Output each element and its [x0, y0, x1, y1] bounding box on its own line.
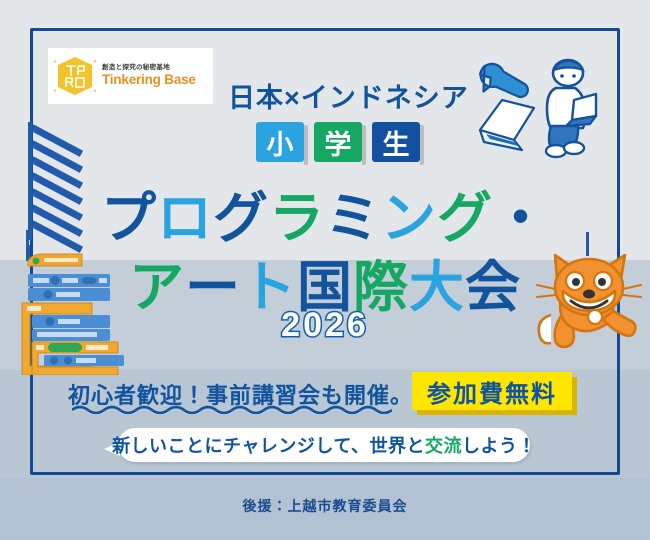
- sponsor-credit: 後援：上越市教育委員会: [0, 496, 650, 516]
- event-poster: 創造と探究の秘密基地 Tinkering Base 日本×インドネシア 小 学 …: [0, 0, 650, 540]
- title-char: ン: [381, 173, 437, 253]
- grade-badge-row: 小 学 生: [256, 122, 420, 162]
- title-char: ・: [493, 173, 549, 253]
- title-char: ラ: [269, 173, 325, 253]
- grade-badge: 学: [314, 122, 362, 162]
- laptop-icon: [480, 100, 534, 150]
- bubble-text-part-1: 新しいことにチャレンジして、世界と: [112, 432, 425, 458]
- title-char: ロ: [157, 173, 213, 253]
- scratch-cat-mascot-icon: [533, 245, 645, 368]
- grade-badge: 生: [372, 122, 420, 162]
- hanging-line-left: [26, 230, 29, 252]
- wave-underline: [72, 404, 392, 414]
- title-char: ミ: [325, 173, 381, 253]
- bubble-text-part-2: しよう！: [462, 432, 536, 458]
- speech-bubble: 新しいことにチャレンジして、世界と交流しよう！: [118, 428, 530, 462]
- hanging-line-right: [586, 232, 589, 256]
- kicker-text: 日本×インドネシア: [228, 76, 469, 115]
- tools-illustration: [470, 52, 635, 167]
- person-with-laptop-icon: [546, 60, 596, 157]
- organizer-logo-badge: 創造と探究の秘密基地 Tinkering Base: [48, 48, 213, 104]
- bubble-text-highlight: 交流: [425, 432, 462, 458]
- hexagon-logo-icon: [54, 54, 96, 98]
- main-title-line-1: プログラミング・: [0, 173, 650, 253]
- title-char: グ: [437, 173, 493, 253]
- grade-badge: 小: [256, 122, 304, 162]
- title-char: グ: [213, 173, 269, 253]
- logo-brand-name: Tinkering Base: [102, 73, 196, 88]
- logo-tagline: 創造と探究の秘密基地: [102, 64, 196, 71]
- free-admission-badge: 参加費無料: [412, 372, 572, 410]
- scratch-code-blocks-illustration: [2, 245, 127, 380]
- title-char: プ: [101, 173, 157, 253]
